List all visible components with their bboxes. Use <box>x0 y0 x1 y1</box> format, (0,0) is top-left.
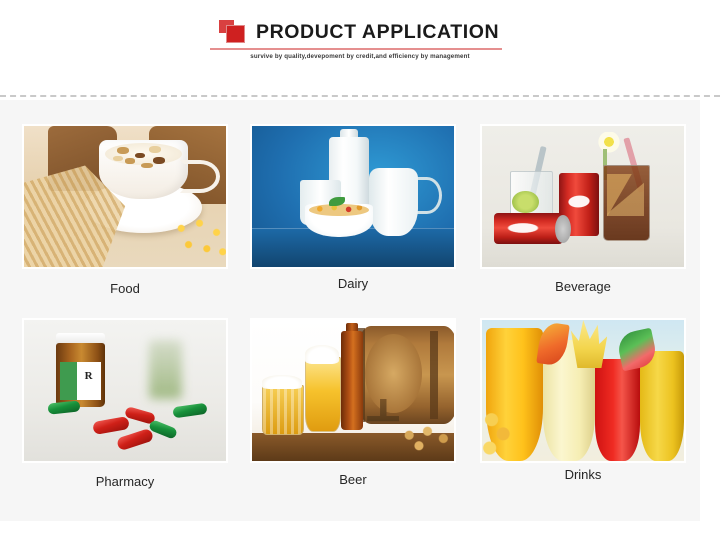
thumbnail-frame[interactable] <box>22 124 228 269</box>
drinks-photo <box>482 320 684 461</box>
beverage-photo <box>482 126 684 267</box>
thumbnail-frame[interactable] <box>250 124 456 269</box>
title-underline-rule <box>210 48 502 50</box>
product-application-grid: Food Dairy <box>0 100 700 521</box>
thumbnail-frame[interactable] <box>250 318 456 463</box>
gallery-item-label: Pharmacy <box>22 474 228 490</box>
gallery-item-food[interactable]: Food <box>22 124 228 297</box>
content-panel: Food Dairy <box>0 100 700 521</box>
gallery-item-dairy[interactable]: Dairy <box>250 124 456 292</box>
beer-photo <box>252 320 454 461</box>
food-photo <box>24 126 226 267</box>
gallery-item-pharmacy[interactable]: R Pharmacy <box>22 318 228 490</box>
header-dashed-divider <box>0 95 720 97</box>
thumbnail-frame[interactable]: R <box>22 318 228 463</box>
page-header: PRODUCT APPLICATION survive by quality,d… <box>0 0 720 96</box>
dairy-photo <box>252 126 454 267</box>
gallery-item-label: Drinks <box>480 467 686 483</box>
brand-row: PRODUCT APPLICATION <box>210 18 510 46</box>
page-title: PRODUCT APPLICATION <box>256 19 499 45</box>
thumbnail-frame[interactable] <box>480 124 686 269</box>
thumbnail-frame[interactable] <box>480 318 686 463</box>
two-red-squares-logo-icon <box>218 19 250 45</box>
gallery-item-beer[interactable]: Beer <box>250 318 456 488</box>
brand-block: PRODUCT APPLICATION survive by quality,d… <box>210 18 510 60</box>
pharmacy-photo: R <box>24 320 226 461</box>
gallery-item-label: Food <box>22 281 228 297</box>
gallery-item-drinks[interactable]: Drinks <box>480 318 686 483</box>
gallery-item-beverage[interactable]: Beverage <box>480 124 686 295</box>
gallery-item-label: Beverage <box>480 279 686 295</box>
logo-square-large <box>226 25 245 43</box>
brand-tagline: survive by quality,devepoment by credit,… <box>210 53 510 60</box>
gallery-item-label: Dairy <box>250 276 456 292</box>
gallery-item-label: Beer <box>250 472 456 488</box>
